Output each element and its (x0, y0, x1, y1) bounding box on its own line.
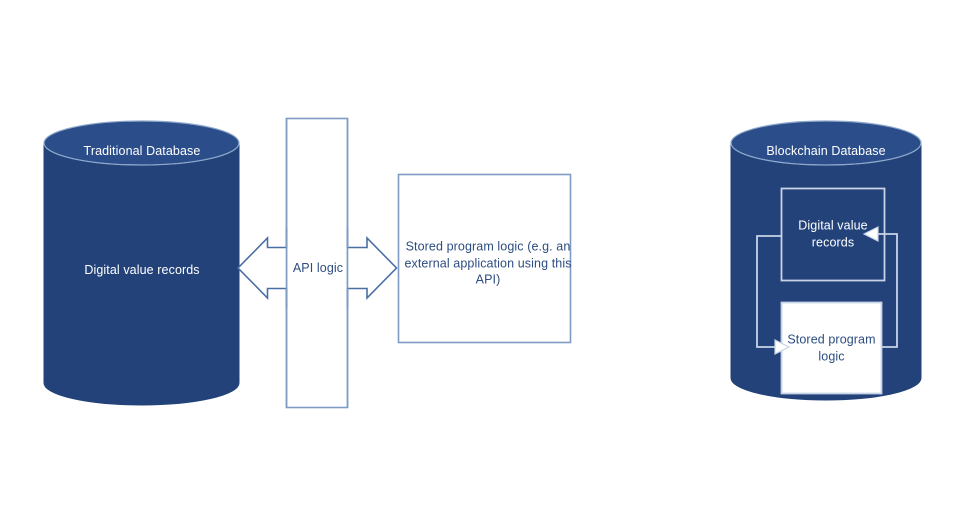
left-cylinder-body (44, 143, 239, 405)
api-arrow-left-head (238, 229, 287, 308)
api-arrow-right-head (348, 229, 397, 308)
traditional-database-cylinder (44, 121, 239, 405)
api-logic-connector[interactable] (238, 119, 397, 408)
blockchain-logic-box[interactable] (782, 303, 882, 394)
diagram-canvas: Traditional Database Digital value recor… (0, 0, 972, 505)
stored-program-logic-external-box[interactable] (399, 175, 571, 343)
diagram-vector-layer (0, 0, 972, 505)
api-vertical-bar[interactable] (287, 119, 348, 408)
